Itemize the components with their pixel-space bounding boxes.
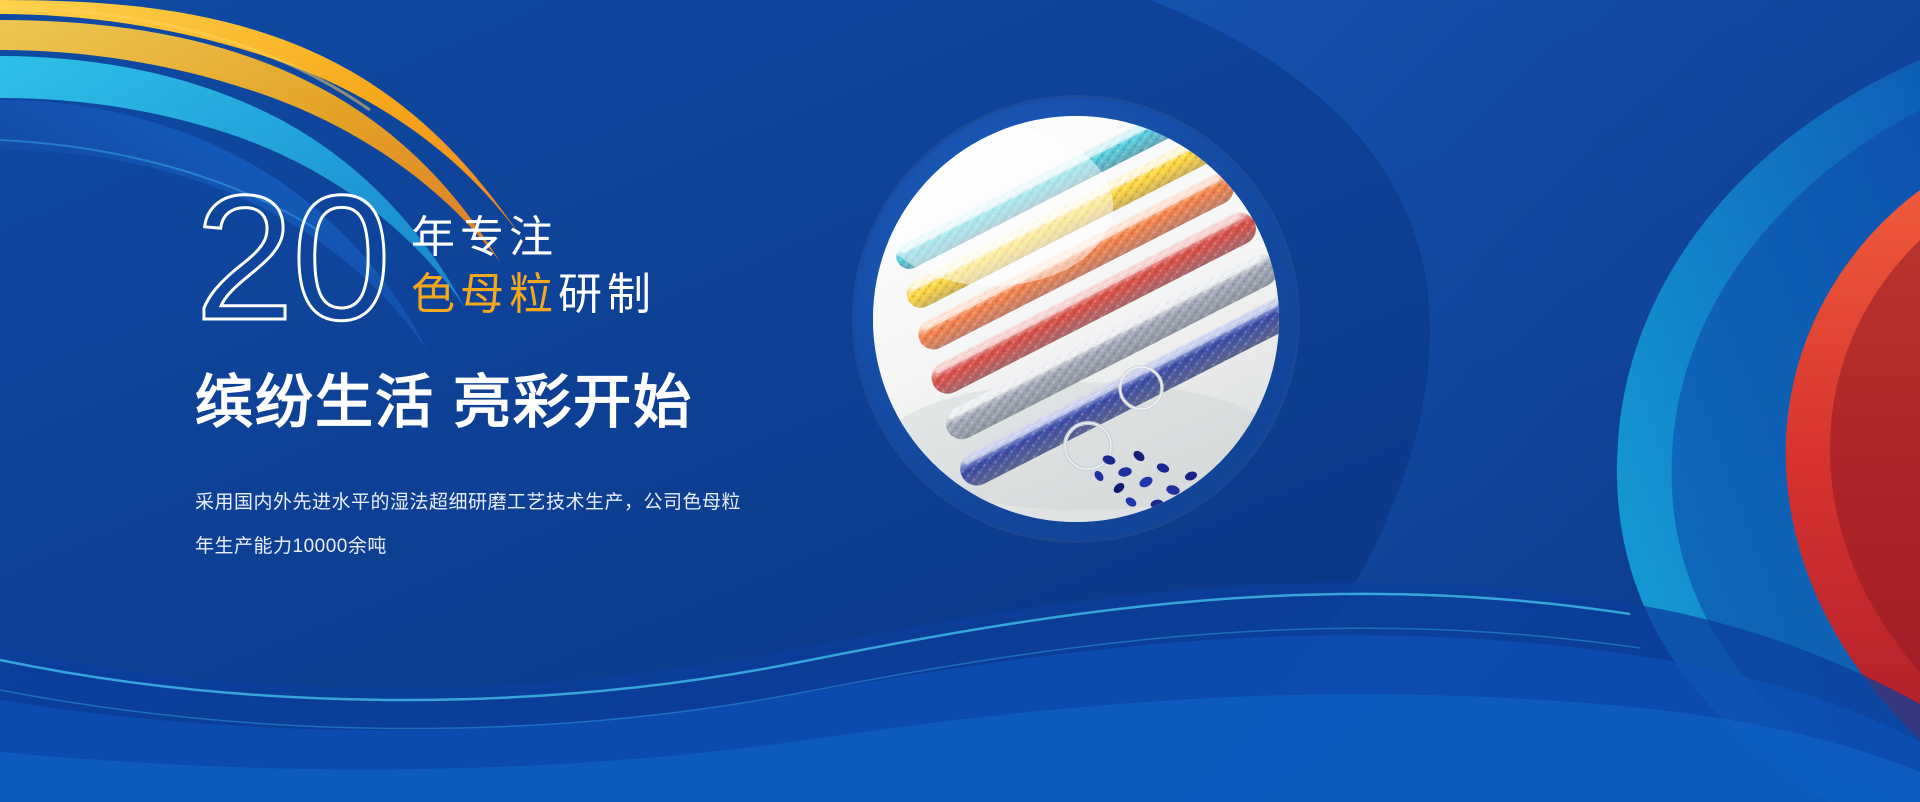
sub-line-focus: 年专注: [411, 209, 656, 266]
years-line: 20 年专注 色母粒研制: [195, 195, 975, 329]
description-line-2: 年生产能力10000余吨: [195, 525, 975, 569]
sub-line-product-rest: 研制: [558, 270, 656, 319]
hero-banner: 20 年专注 色母粒研制 缤纷生活 亮彩开始 采用国内外先进水平的湿法超细研磨工…: [0, 0, 1920, 802]
description-paragraph: 采用国内外先进水平的湿法超细研磨工艺技术生产，公司色母粒 年生产能力10000余…: [195, 481, 975, 568]
main-headline: 缤纷生活 亮彩开始: [195, 355, 975, 439]
years-number: 20: [195, 187, 389, 329]
description-line-1: 采用国内外先进水平的湿法超细研磨工艺技术生产，公司色母粒: [195, 481, 975, 525]
hero-text-block: 20 年专注 色母粒研制 缤纷生活 亮彩开始 采用国内外先进水平的湿法超细研磨工…: [195, 195, 975, 569]
sub-line-product: 色母粒研制: [411, 266, 656, 323]
sub-line-product-accent: 色母粒: [411, 270, 558, 319]
years-sub-lines: 年专注 色母粒研制: [411, 195, 656, 323]
